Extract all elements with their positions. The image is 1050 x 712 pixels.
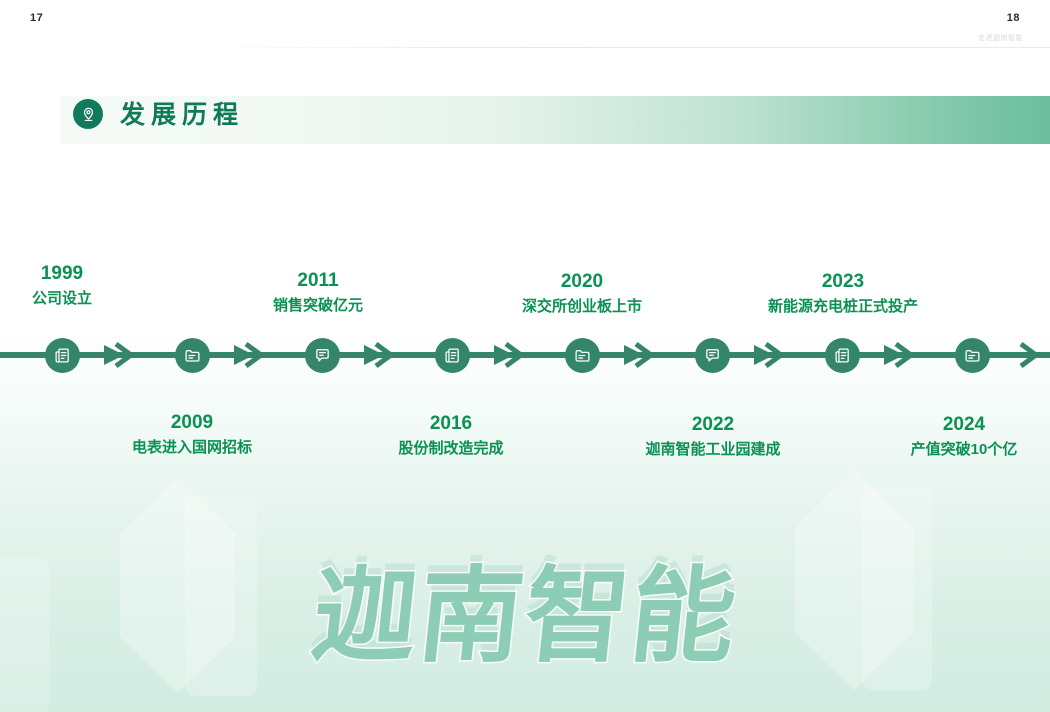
- timeline-arrow-layer: [0, 330, 1050, 380]
- milestone-label-2020: 2020 深交所创业板上市: [522, 270, 642, 320]
- milestone-label-2016: 2016 股份制改造完成: [398, 412, 503, 462]
- document-icon: [834, 347, 851, 364]
- slide-canvas: 17 18 走进迦南智能 发展历程: [0, 0, 1050, 712]
- milestone-text: 深交所创业板上市: [522, 294, 642, 320]
- milestone-year: 2022: [645, 413, 780, 437]
- timeline-node-2[interactable]: [175, 338, 210, 373]
- milestone-year: 2024: [911, 413, 1018, 437]
- document-icon: [444, 347, 461, 364]
- timeline-node-3[interactable]: [305, 338, 340, 373]
- milestone-label-2009: 2009 电表进入国网招标: [132, 411, 252, 461]
- milestone-year: 2011: [273, 269, 363, 293]
- milestone-label-2011: 2011 销售突破亿元: [273, 269, 363, 319]
- milestone-year: 2016: [398, 412, 503, 436]
- milestone-text: 新能源充电桩正式投产: [768, 294, 918, 320]
- milestone-text: 产值突破10个亿: [911, 437, 1018, 463]
- milestone-label-1999: 1999 公司设立: [32, 262, 92, 312]
- milestone-text: 股份制改造完成: [398, 436, 503, 462]
- timeline-node-6[interactable]: [695, 338, 730, 373]
- chat-bubble-icon: [704, 347, 721, 364]
- timeline-node-5[interactable]: [565, 338, 600, 373]
- milestone-year: 2023: [768, 270, 918, 294]
- folder-icon: [184, 347, 201, 364]
- timeline-node-4[interactable]: [435, 338, 470, 373]
- folder-icon: [964, 347, 981, 364]
- milestone-text: 迦南智能工业园建成: [645, 437, 780, 463]
- milestone-year: 1999: [32, 262, 92, 286]
- folder-icon: [574, 347, 591, 364]
- milestone-label-2023: 2023 新能源充电桩正式投产: [768, 270, 918, 320]
- milestone-year: 2009: [132, 411, 252, 435]
- document-icon: [54, 347, 71, 364]
- milestone-year: 2020: [522, 270, 642, 294]
- chat-bubble-icon: [314, 347, 331, 364]
- milestone-text: 公司设立: [32, 286, 92, 312]
- brand-wordmark: 迦南智能: [0, 560, 1050, 672]
- milestone-text: 销售突破亿元: [273, 293, 363, 319]
- timeline-node-8[interactable]: [955, 338, 990, 373]
- milestone-label-2024: 2024 产值突破10个亿: [911, 413, 1018, 463]
- milestone-label-2022: 2022 迦南智能工业园建成: [645, 413, 780, 463]
- timeline-node-1[interactable]: [45, 338, 80, 373]
- timeline-node-7[interactable]: [825, 338, 860, 373]
- milestone-text: 电表进入国网招标: [132, 435, 252, 461]
